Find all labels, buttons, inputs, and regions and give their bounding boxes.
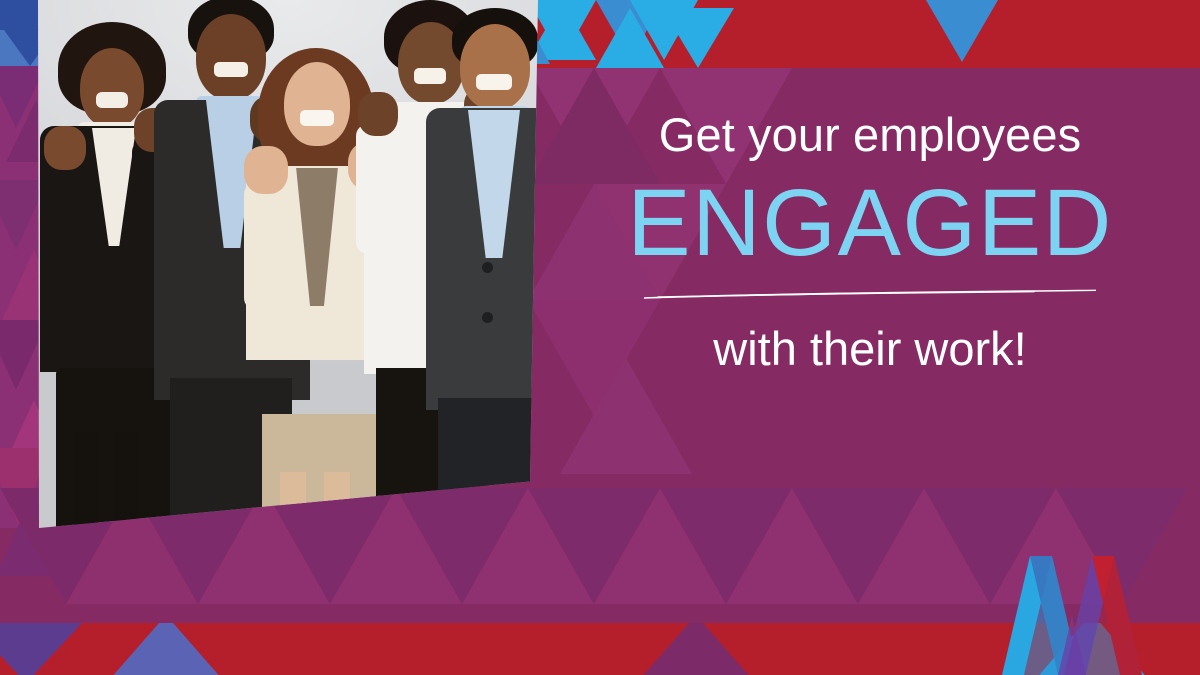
thumb-left xyxy=(358,92,398,136)
headline-line-3: with their work! xyxy=(556,324,1184,375)
button-2 xyxy=(482,312,493,323)
arm-left-raised xyxy=(244,182,292,310)
m-logo xyxy=(1002,556,1162,675)
team-photo xyxy=(38,0,538,528)
mouth xyxy=(300,110,334,126)
left-fist xyxy=(44,126,86,170)
button-1 xyxy=(482,262,493,273)
head xyxy=(80,48,144,128)
arm-left-thumb xyxy=(356,124,400,254)
leg-left xyxy=(74,432,98,528)
headline-line-1: Get your employees xyxy=(556,110,1184,161)
head xyxy=(284,62,350,146)
photo-backdrop xyxy=(38,0,538,528)
leg-right xyxy=(114,432,138,528)
banner-canvas: Get your employees ENGAGED with their wo… xyxy=(0,0,1200,675)
fist-left xyxy=(244,146,288,194)
headline-block: Get your employees ENGAGED with their wo… xyxy=(556,110,1184,374)
person-man-charcoal-suit xyxy=(430,0,538,528)
mouth xyxy=(476,74,512,90)
headline-emphasis-engaged: ENGAGED xyxy=(556,175,1184,272)
brush-underline xyxy=(642,286,1098,298)
head xyxy=(460,24,530,110)
mouth xyxy=(96,92,128,108)
